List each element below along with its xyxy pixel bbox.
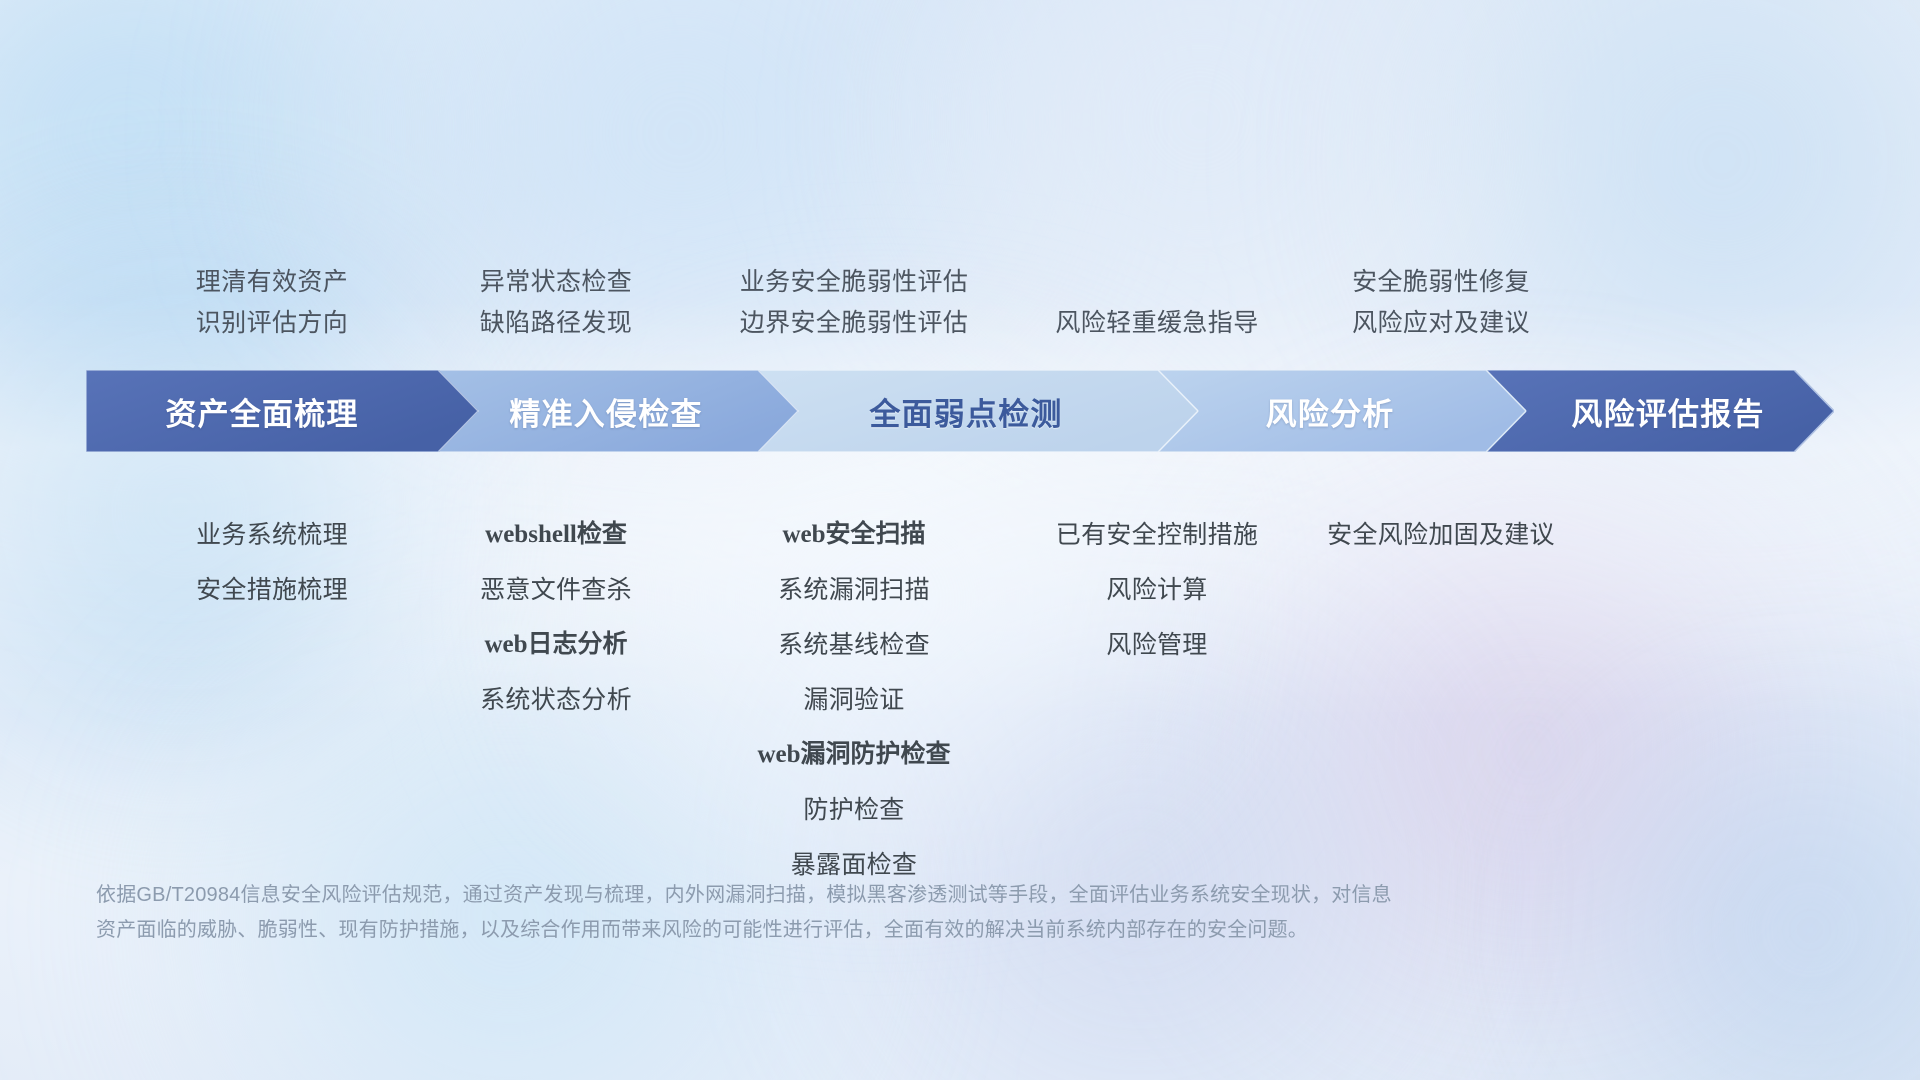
bottom-notes-assessment-report: 安全风险加固及建议 [1221, 515, 1661, 570]
stage-label-intrusion-check: 精准入侵检查 [509, 389, 702, 434]
bottom-note: 风险管理 [937, 625, 1377, 665]
stage-arrow-intrusion-check[interactable]: 精准入侵检查 [438, 370, 798, 452]
stage-label-asset-inventory: 资产全面梳理 [165, 389, 358, 434]
top-note: 安全脆弱性修复 [1231, 262, 1651, 303]
stage-label-risk-analysis: 风险分析 [1266, 389, 1395, 434]
footer-line-1: 依据GB/T20984信息安全风险评估规范，通过资产发现与梳理，内外网漏洞扫描，… [96, 878, 1616, 913]
bottom-note: 风险计算 [937, 570, 1377, 610]
top-note: 风险应对及建议 [1231, 303, 1651, 344]
bottom-note: 安全风险加固及建议 [1221, 515, 1661, 555]
footer-line-2: 资产面临的威胁、脆弱性、现有防护措施，以及综合作用而带来风险的可能性进行评估，全… [96, 913, 1616, 948]
footer-description: 依据GB/T20984信息安全风险评估规范，通过资产发现与梳理，内外网漏洞扫描，… [96, 878, 1616, 948]
bottom-note: web漏洞防护检查 [634, 735, 1074, 775]
stage-arrow-risk-analysis[interactable]: 风险分析 [1158, 370, 1526, 452]
stage-arrow-asset-inventory[interactable]: 资产全面梳理 [86, 370, 478, 452]
bottom-note: 防护检查 [634, 790, 1074, 830]
stage-arrow-assessment-report[interactable]: 风险评估报告 [1486, 370, 1834, 452]
stage-label-assessment-report: 风险评估报告 [1571, 389, 1764, 434]
stage-arrow-band: 资产全面梳理精准入侵检查全面弱点检测风险分析风险评估报告 [86, 370, 1834, 452]
top-note: 业务安全脆弱性评估 [644, 262, 1064, 303]
process-diagram: 理清有效资产识别评估方向异常状态检查缺陷路径发现业务安全脆弱性评估边界安全脆弱性… [0, 0, 1920, 1080]
stage-arrow-weakness-detection[interactable]: 全面弱点检测 [758, 370, 1198, 452]
top-notes-assessment-report: 安全脆弱性修复风险应对及建议 [1231, 262, 1651, 343]
bottom-note: 漏洞验证 [634, 680, 1074, 720]
stage-label-weakness-detection: 全面弱点检测 [869, 389, 1062, 434]
